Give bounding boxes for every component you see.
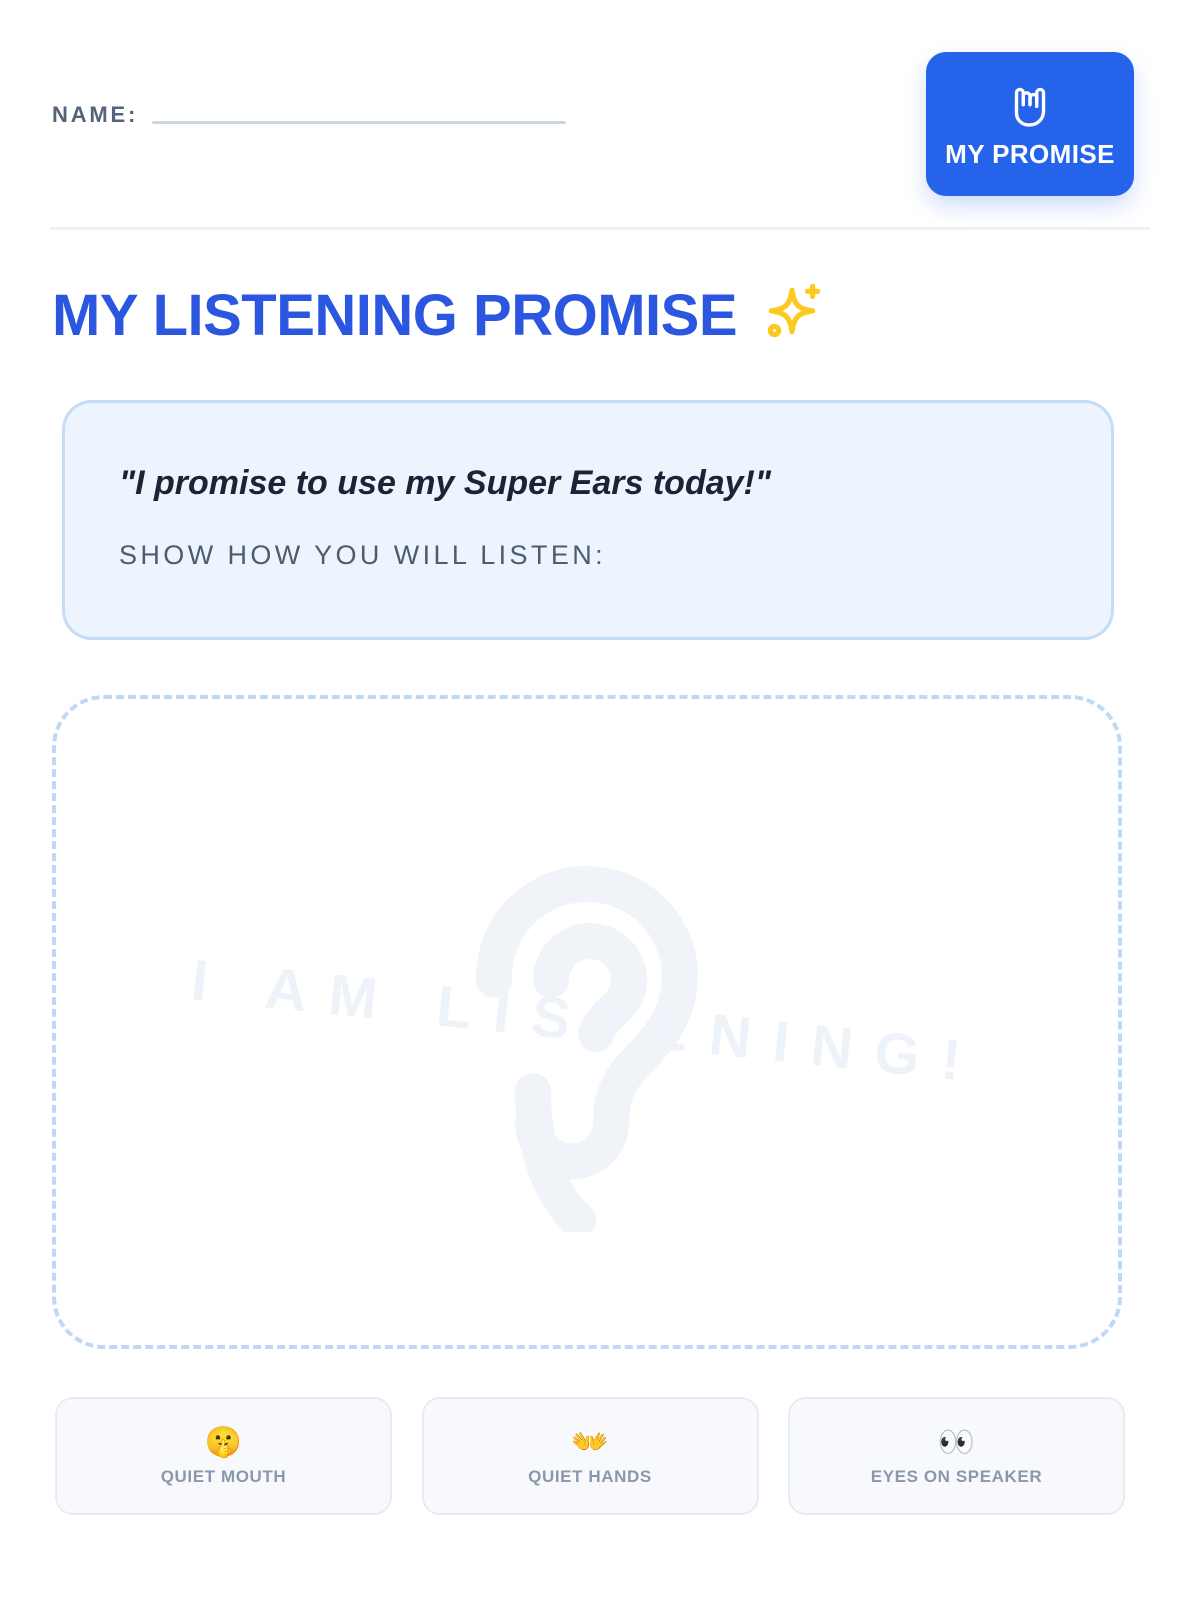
page-title: MY LISTENING PROMISE [52,287,737,345]
badge-label: MY PROMISE [945,141,1115,167]
reminder-label: QUIET HANDS [528,1468,652,1485]
promise-instruction-text: SHOW HOW YOU WILL LISTEN: [119,542,1111,569]
eyes-icon: 👀 [938,1428,975,1458]
reminder-card-quiet-mouth[interactable]: 🤫 QUIET MOUTH [55,1397,392,1515]
promise-prompt-box: "I promise to use my Super Ears today!" … [62,400,1114,640]
sparkles-icon [759,280,825,346]
reminder-label: QUIET MOUTH [161,1468,287,1485]
open-hands-icon: 👐 [571,1428,608,1458]
page-header: NAME: MY PROMISE [0,0,1200,230]
reminder-card-eyes-on-speaker[interactable]: 👀 EYES ON SPEAKER [788,1397,1125,1515]
worksheet-page: NAME: MY PROMISE MY LISTENING PROMISE "I… [0,0,1200,1600]
header-divider [50,227,1150,230]
promise-quote-text: "I promise to use my Super Ears today!" [119,465,1111,502]
name-label: NAME: [52,104,138,130]
title-row: MY LISTENING PROMISE [52,286,825,346]
name-field-row: NAME: [52,104,566,130]
reminder-label: EYES ON SPEAKER [871,1468,1043,1485]
reminder-cards-row: 🤫 QUIET MOUTH 👐 QUIET HANDS 👀 EYES ON SP… [55,1397,1125,1515]
love-you-hand-sign-icon [1003,81,1057,135]
name-input-line[interactable] [152,121,566,124]
reminder-card-quiet-hands[interactable]: 👐 QUIET HANDS [422,1397,759,1515]
shushing-face-icon: 🤫 [205,1428,242,1458]
drawing-canvas-area[interactable]: I AM LISTENING! [52,695,1122,1349]
my-promise-badge[interactable]: MY PROMISE [926,52,1134,196]
